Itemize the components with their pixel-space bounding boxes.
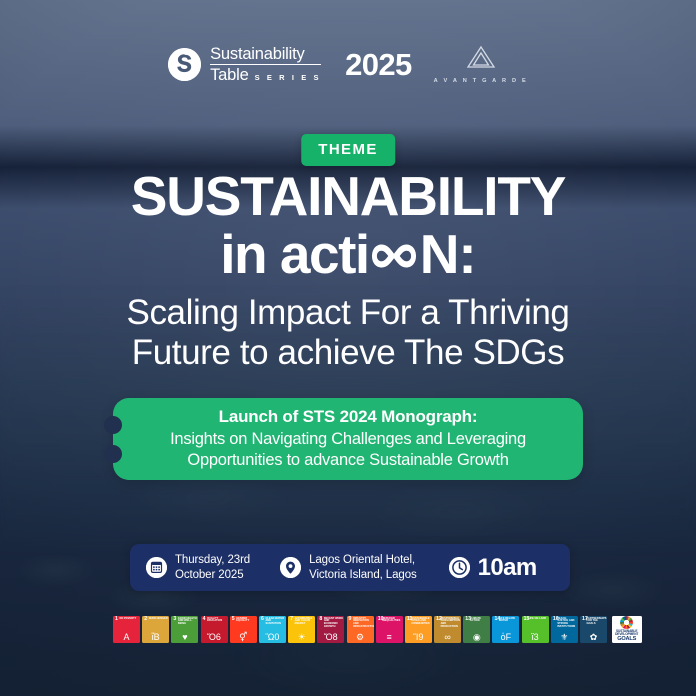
sdg-tile-17: 17PARTNERSHIPS FOR THE GOALS✿ — [580, 616, 607, 643]
sustainability-table-logo: Sustainability Table S E R I E S — [168, 46, 321, 83]
clock-icon — [449, 557, 470, 578]
monograph-title: Launch of STS 2024 Monograph: — [219, 407, 478, 427]
headline-sub-line-1: Scaling Impact For a Thriving — [0, 293, 696, 334]
sdg-label: REDUCED INEQUALITIES — [382, 618, 402, 624]
sdg-glyph-icon: ⚙ — [347, 633, 374, 642]
detail-location-line-1: Lagos Oriental Hotel, — [309, 554, 415, 566]
sdg-number: 8 — [319, 617, 322, 622]
sdg-tile-6: 6CLEAN WATER AND SANITATIONὫ0 — [259, 616, 286, 643]
sdg-label: SUSTAINABLE CITIES AND COMMUNITIES — [411, 618, 431, 626]
headline-line-1: SUSTAINABILITY — [0, 168, 696, 224]
sdg-glyph-icon: ⚜ — [551, 633, 578, 642]
sdg-tile-7: 7AFFORDABLE AND CLEAN ENERGY☀ — [288, 616, 315, 643]
detail-time: 10am — [449, 554, 537, 582]
sdg-label: RESPONSIBLE CONSUMPTION AND PRODUCTION — [441, 618, 461, 629]
monograph-line-1: Insights on Navigating Challenges and Le… — [170, 429, 526, 450]
sdg-tile-12: 12RESPONSIBLE CONSUMPTION AND PRODUCTION… — [434, 616, 461, 643]
sdg-number: 9 — [349, 617, 352, 622]
logo-line-series: S E R I E S — [255, 74, 322, 82]
headline-line-2-suffix: N: — [420, 226, 476, 284]
event-poster: Sustainability Table S E R I E S 2025 A … — [0, 0, 696, 696]
sdg-glyph-icon: ⚥ — [230, 633, 257, 642]
sdg-glyph-icon: ὆A — [113, 633, 140, 642]
sdg-tile-3: 3GOOD HEALTH AND WELL-BEING♥ — [171, 616, 198, 643]
sdg-label: CLIMATE ACTION — [470, 618, 490, 624]
sdg-glyph-icon: ∞ — [434, 633, 461, 642]
sdg-number: 4 — [203, 617, 206, 622]
avant-garde-triangle-icon — [466, 45, 496, 74]
sdg-tile-4: 4QUALITY EDUCATIONὍ6 — [201, 616, 228, 643]
sdg-tile-16: 16PEACE, JUSTICE AND STRONG INSTITUTIONS… — [551, 616, 578, 643]
poster-header: Sustainability Table S E R I E S 2025 A … — [0, 45, 696, 84]
avant-garde-name: A V A N T G A R D E — [434, 78, 528, 84]
sdg-tile-1: 1NO POVERTY὆A — [113, 616, 140, 643]
sdg-label: LIFE ON LAND — [528, 618, 548, 621]
sdg-glyph-icon: ☀ — [288, 633, 315, 642]
sdg-glyph-icon: ἵB — [142, 633, 169, 642]
detail-location-line-2: Victoria Island, Lagos — [309, 569, 417, 581]
sdg-tile-13: 13CLIMATE ACTION◉ — [463, 616, 490, 643]
sdg-label: GENDER EQUALITY — [236, 618, 256, 624]
monograph-card: Launch of STS 2024 Monograph: Insights o… — [113, 398, 583, 480]
logo-line-table: Table — [210, 67, 248, 84]
sdg-glyph-icon: ◉ — [463, 633, 490, 642]
detail-time-value: 10am — [478, 554, 537, 582]
calendar-icon — [146, 557, 167, 578]
sdg-glyph-icon: ≡ — [376, 633, 403, 642]
sdg-label: QUALITY EDUCATION — [207, 618, 227, 624]
sdg-tile-14: 14LIFE BELOW WATERὁF — [492, 616, 519, 643]
sdg-label: CLEAN WATER AND SANITATION — [265, 618, 285, 626]
infinity-symbol-icon — [366, 236, 422, 276]
sdg-glyph-icon: Ὣ0 — [259, 633, 286, 642]
sdg-label: NO POVERTY — [120, 618, 140, 621]
sdg-tile-15: 15LIFE ON LANDἳ3 — [522, 616, 549, 643]
logo-line-sustainability: Sustainability — [210, 46, 321, 65]
sdg-number: 5 — [232, 617, 235, 622]
sdg-glyph-icon: ♥ — [171, 633, 198, 642]
headline-sub-line-2: Future to achieve The SDGs — [0, 333, 696, 374]
sdg-label: DECENT WORK AND ECONOMIC GROWTH — [324, 618, 344, 629]
sdg-number: 3 — [173, 617, 176, 622]
monograph-line-2: Opportunities to advance Sustainable Gro… — [187, 450, 508, 471]
headline-block: SUSTAINABILITY in ACTIN: Scaling Impact … — [0, 168, 696, 374]
event-details-bar: Thursday, 23rd October 2025 Lagos Orient… — [130, 544, 570, 591]
location-pin-icon — [280, 557, 301, 578]
sdg-color-wheel-icon — [620, 616, 633, 629]
sdg-glyph-icon: ὁF — [492, 633, 519, 642]
sdg-number: 2 — [144, 617, 147, 622]
theme-badge: THEME — [301, 134, 395, 166]
sdg-tile-8: 8DECENT WORK AND ECONOMIC GROWTHὌ8 — [317, 616, 344, 643]
sdg-label: GOOD HEALTH AND WELL-BEING — [178, 618, 198, 626]
edition-year: 2025 — [345, 49, 412, 80]
sdg-tile-10: 10REDUCED INEQUALITIES≡ — [376, 616, 403, 643]
sdg-goals-strip: 1NO POVERTY὆A2ZERO HUNGERἵB3GOOD HEALTH … — [113, 616, 642, 643]
sdg-label: ZERO HUNGER — [149, 618, 169, 621]
sdg-tile-9: 9INDUSTRY, INNOVATION AND INFRASTRUCTURE… — [347, 616, 374, 643]
detail-date: Thursday, 23rd October 2025 — [146, 553, 250, 583]
sdg-label: LIFE BELOW WATER — [499, 618, 519, 624]
sdg-tile-11: 11SUSTAINABLE CITIES AND COMMUNITIESἽ9 — [405, 616, 432, 643]
sdg-glyph-icon: ἳ3 — [522, 633, 549, 642]
avant-garde-logo: A V A N T G A R D E — [434, 45, 528, 84]
sdg-label: PEACE, JUSTICE AND STRONG INSTITUTIONS — [557, 618, 577, 629]
detail-date-line-1: Thursday, 23rd — [175, 554, 250, 566]
sdg-glyph-icon: Ὄ8 — [317, 633, 344, 642]
sdg-glyph-icon: Ὅ6 — [201, 633, 228, 642]
sdg-wheel-logo: SUSTAINABLE DEVELOPMENTGOALS — [612, 616, 642, 643]
sdg-label: AFFORDABLE AND CLEAN ENERGY — [295, 618, 315, 626]
sdg-label: INDUSTRY, INNOVATION AND INFRASTRUCTURE — [353, 618, 373, 629]
sdg-tile-5: 5GENDER EQUALITY⚥ — [230, 616, 257, 643]
sdg-glyph-icon: Ἵ9 — [405, 633, 432, 642]
sdg-number: 1 — [115, 617, 118, 622]
headline-line-2: in ACTIN: — [0, 226, 696, 284]
sdg-number: 6 — [261, 617, 264, 622]
sdg-wheel-label-bottom: GOALS — [617, 637, 636, 643]
sdg-glyph-icon: ✿ — [580, 633, 607, 642]
sdg-label: PARTNERSHIPS FOR THE GOALS — [587, 618, 607, 626]
detail-location: Lagos Oriental Hotel, Victoria Island, L… — [280, 553, 417, 583]
headline-line-2-prefix: in ACTI — [220, 223, 368, 285]
sdg-tile-2: 2ZERO HUNGERἵB — [142, 616, 169, 643]
detail-date-line-2: October 2025 — [175, 569, 244, 581]
sdg-number: 7 — [290, 617, 293, 622]
sts-swirl-icon — [168, 48, 201, 81]
